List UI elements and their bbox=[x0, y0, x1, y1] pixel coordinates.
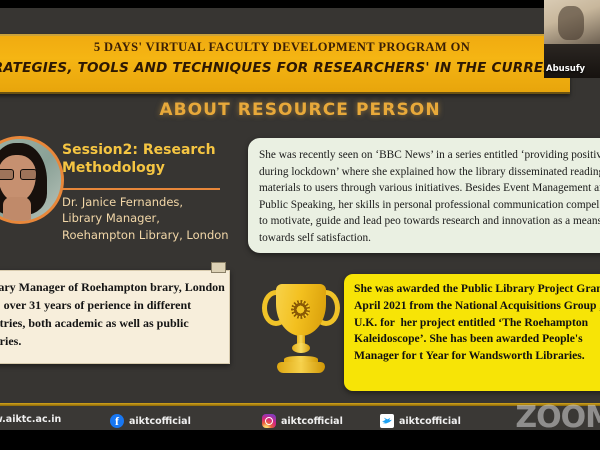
participant-video-thumbnail[interactable]: Abusufy bbox=[544, 0, 600, 78]
bio-callout-box: Library Manager of Roehampton brary, Lon… bbox=[0, 270, 230, 364]
twitter-handle: aiktcofficial bbox=[399, 416, 461, 427]
bbc-news-callout-box: She was recently seen on ‘BBC News’ in a… bbox=[248, 138, 600, 253]
speaker-organization: Roehampton Library, London bbox=[62, 227, 262, 243]
bio-box-handle bbox=[211, 262, 226, 273]
twitter-icon bbox=[380, 414, 394, 428]
video-frame-upper bbox=[544, 0, 600, 44]
speaker-role: Library Manager, bbox=[62, 210, 262, 226]
video-subject bbox=[558, 6, 584, 40]
letterbox-bottom bbox=[0, 430, 600, 450]
footer-twitter: aiktcofficial bbox=[380, 414, 461, 428]
facebook-icon: f bbox=[110, 414, 124, 428]
footer-website: w.aiktc.ac.in bbox=[0, 414, 61, 425]
slide-footer: w.aiktc.ac.in f aiktcofficial aiktcoffic… bbox=[0, 406, 600, 430]
trophy-base-lower bbox=[277, 362, 325, 373]
bbc-news-paragraph: She was recently seen on ‘BBC News’ in a… bbox=[259, 147, 600, 247]
website-label: w.aiktc.ac.in bbox=[0, 414, 61, 425]
speaker-avatar bbox=[0, 136, 64, 224]
footer-instagram: aiktcofficial bbox=[262, 414, 343, 428]
letterbox-top bbox=[0, 0, 600, 8]
page-title: ABOUT RESOURCE PERSON bbox=[0, 100, 600, 120]
zoom-watermark: ZOOM bbox=[515, 400, 600, 430]
trophy-emblem bbox=[291, 300, 310, 319]
avatar-glasses bbox=[0, 169, 37, 178]
presentation-slide: 5 DAYS' VIRTUAL FACULTY DEVELOPMENT PROG… bbox=[0, 8, 600, 430]
header-title-line-2: STRATEGIES, TOOLS AND TECHNIQUES FOR RES… bbox=[0, 60, 600, 76]
participant-name-label: Abusufy bbox=[546, 64, 585, 74]
avatar-neck bbox=[3, 197, 31, 221]
speaker-details: Dr. Janice Fernandes, Library Manager, R… bbox=[62, 194, 262, 243]
facebook-handle: aiktcofficial bbox=[129, 416, 191, 427]
trophy-knob bbox=[292, 343, 310, 353]
slide-header-band: 5 DAYS' VIRTUAL FACULTY DEVELOPMENT PROG… bbox=[0, 34, 570, 94]
award-callout-box: She was awarded the Public Library Proje… bbox=[344, 274, 600, 391]
session-title: Session2: Research Methodology bbox=[62, 142, 242, 177]
header-title-line-1: 5 DAYS' VIRTUAL FACULTY DEVELOPMENT PROG… bbox=[0, 40, 570, 55]
speaker-name: Dr. Janice Fernandes, bbox=[62, 194, 262, 210]
instagram-icon bbox=[262, 414, 276, 428]
instagram-handle: aiktcofficial bbox=[281, 416, 343, 427]
award-paragraph: She was awarded the Public Library Proje… bbox=[354, 281, 600, 365]
bio-paragraph: Library Manager of Roehampton brary, Lon… bbox=[0, 278, 225, 350]
trophy-icon bbox=[258, 280, 344, 384]
zoom-shared-screen: 5 DAYS' VIRTUAL FACULTY DEVELOPMENT PROG… bbox=[0, 0, 600, 450]
footer-facebook: f aiktcofficial bbox=[110, 414, 191, 428]
session-divider bbox=[62, 188, 220, 190]
